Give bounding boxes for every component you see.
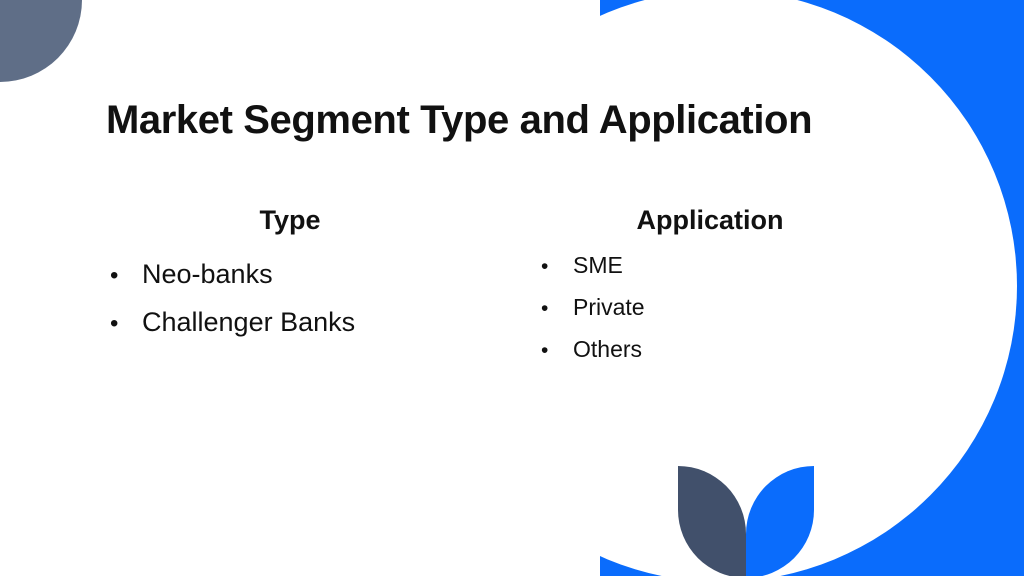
list-item-label: SME — [573, 244, 623, 286]
column-heading-application: Application — [520, 205, 900, 236]
column-heading-type: Type — [100, 205, 480, 236]
list-item: • Neo-banks — [100, 250, 480, 298]
bullet-dot-icon: • — [520, 298, 573, 319]
slide-canvas: Market Segment Type and Application Type… — [0, 0, 1024, 576]
list-item-label: Private — [573, 286, 645, 328]
list-item: • SME — [520, 244, 900, 286]
page-title: Market Segment Type and Application — [106, 98, 812, 143]
list-item: • Private — [520, 286, 900, 328]
list-item-label: Neo-banks — [142, 250, 273, 298]
bullet-list-type: • Neo-banks • Challenger Banks — [100, 250, 480, 346]
bullet-list-application: • SME • Private • Others — [520, 244, 900, 370]
bullet-dot-icon: • — [100, 312, 142, 336]
bullet-dot-icon: • — [100, 264, 142, 288]
slide-content: Market Segment Type and Application Type… — [0, 0, 1024, 576]
list-item: • Challenger Banks — [100, 298, 480, 346]
bullet-dot-icon: • — [520, 256, 573, 277]
list-item-label: Challenger Banks — [142, 298, 355, 346]
column-application: Application • SME • Private • Others — [520, 205, 900, 370]
bullet-dot-icon: • — [520, 340, 573, 361]
list-item: • Others — [520, 328, 900, 370]
list-item-label: Others — [573, 328, 642, 370]
column-type: Type • Neo-banks • Challenger Banks — [100, 205, 480, 346]
